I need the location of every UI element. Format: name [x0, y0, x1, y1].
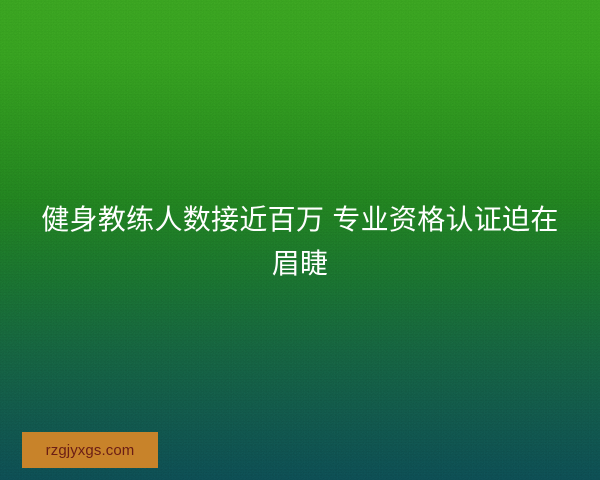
- watermark-url-text: rzgjyxgs.com: [46, 443, 135, 458]
- image-canvas: 健身教练人数接近百万 专业资格认证迫在眉睫 rzgjyxgs.com: [0, 0, 600, 480]
- watermark-badge: rzgjyxgs.com: [22, 432, 158, 468]
- headline-title: 健身教练人数接近百万 专业资格认证迫在眉睫: [30, 198, 570, 286]
